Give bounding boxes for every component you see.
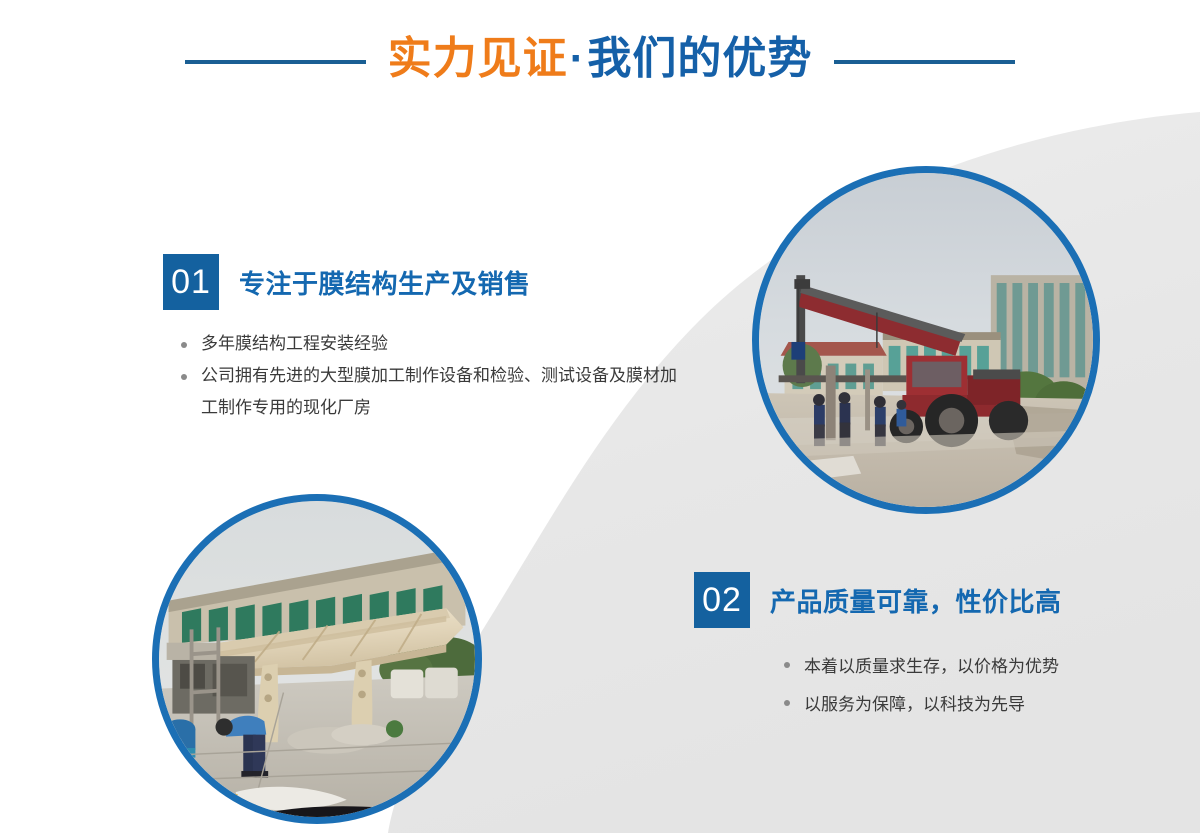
feature-02-header: 02 产品质量可靠，性价比高 [694,572,1114,628]
feature-01-title: 专注于膜结构生产及销售 [239,264,531,301]
feature-02-title: 产品质量可靠，性价比高 [770,582,1062,619]
promo-banner: 实力见证·我们的优势 [0,0,1200,833]
list-item: 以服务为保障，以科技为先导 [774,686,1114,724]
membrane-canopy-photo-inner [159,501,475,817]
list-item: 多年膜结构工程安装经验 [171,328,683,360]
feature-02-number-badge: 02 [694,572,750,628]
membrane-canopy-illustration [159,501,475,817]
feature-block-01: 01 专注于膜结构生产及销售 多年膜结构工程安装经验 公司拥有先进的大型膜加工制… [163,254,683,424]
feature-01-header: 01 专注于膜结构生产及销售 [163,254,683,310]
header-rule-right [834,60,1015,64]
header-rule-left [185,60,366,64]
page-title: 实力见证·我们的优势 [388,37,813,81]
feature-01-number-badge: 01 [163,254,219,310]
list-item: 公司拥有先进的大型膜加工制作设备和检验、测试设备及膜材加工制作专用的现化厂房 [171,360,683,424]
crane-tractor-site-illustration [759,173,1093,507]
feature-01-bullet-list: 多年膜结构工程安装经验 公司拥有先进的大型膜加工制作设备和检验、测试设备及膜材加… [171,328,683,424]
list-item: 本着以质量求生存，以价格为优势 [774,648,1114,686]
crane-tractor-site-photo [752,166,1100,514]
page-title-separator: · [568,34,588,83]
feature-block-02: 02 产品质量可靠，性价比高 本着以质量求生存，以价格为优势 以服务为保障，以科… [694,572,1114,724]
page-title-main: 我们的优势 [587,34,812,83]
membrane-canopy-photo [152,494,482,824]
feature-02-bullet-list: 本着以质量求生存，以价格为优势 以服务为保障，以科技为先导 [774,648,1114,724]
page-title-accent: 实力见证 [388,34,568,83]
crane-tractor-site-photo-inner [759,173,1093,507]
section-header: 实力见证·我们的优势 [0,0,1200,118]
